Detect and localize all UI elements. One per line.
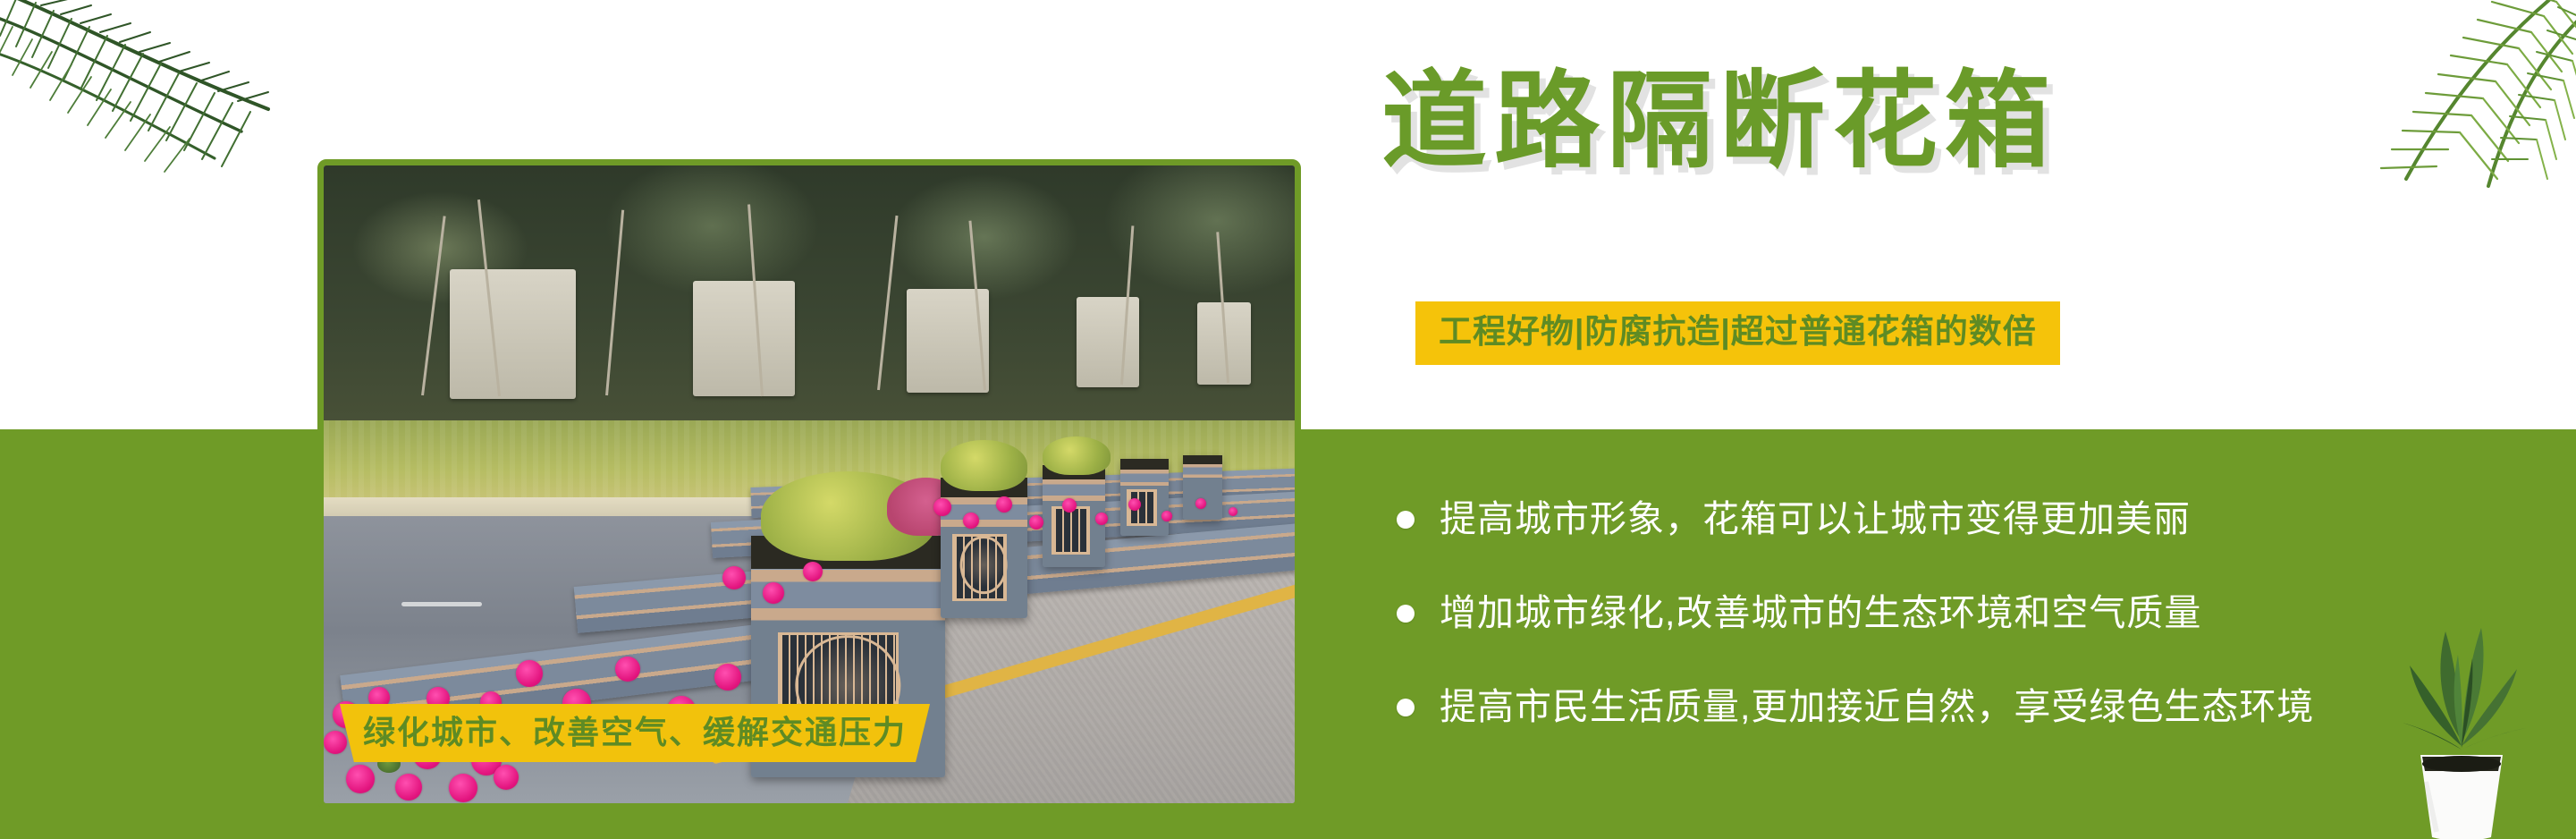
list-item-label: 提高市民生活质量,更加接近自然，享受绿色生态环境 [1440, 685, 2314, 729]
promo-banner: 绿化城市、改善空气、缓解交通压力 道路隔断花箱 工程好物|防腐抗造|超过普通花箱… [0, 0, 2576, 839]
flower-cluster [925, 485, 1295, 587]
flower-cluster [712, 536, 964, 638]
page-title: 道路隔断花箱 [1381, 64, 2057, 181]
photo-caption-ribbon: 绿化城市、改善空气、缓解交通压力 [340, 704, 930, 762]
bullet-dot-icon [1397, 605, 1415, 623]
planter-shrub [1043, 436, 1111, 475]
list-item-label: 提高城市形象，花箱可以让城市变得更加美丽 [1440, 497, 2191, 541]
subtitle-badge: 工程好物|防腐抗造|超过普通花箱的数倍 [1415, 301, 2060, 365]
bullet-dot-icon [1397, 699, 1415, 716]
palm-leaf-icon [2254, 0, 2576, 188]
list-item: 提高城市形象，花箱可以让城市变得更加美丽 [1397, 472, 2559, 566]
photo-background-trees [324, 165, 1295, 440]
bullet-dot-icon [1397, 511, 1415, 529]
planter-shrub [941, 440, 1028, 491]
potted-plant-icon [2372, 606, 2551, 839]
list-item-label: 增加城市绿化,改善城市的生态环境和空气质量 [1440, 591, 2201, 635]
palm-leaf-icon [0, 0, 277, 181]
